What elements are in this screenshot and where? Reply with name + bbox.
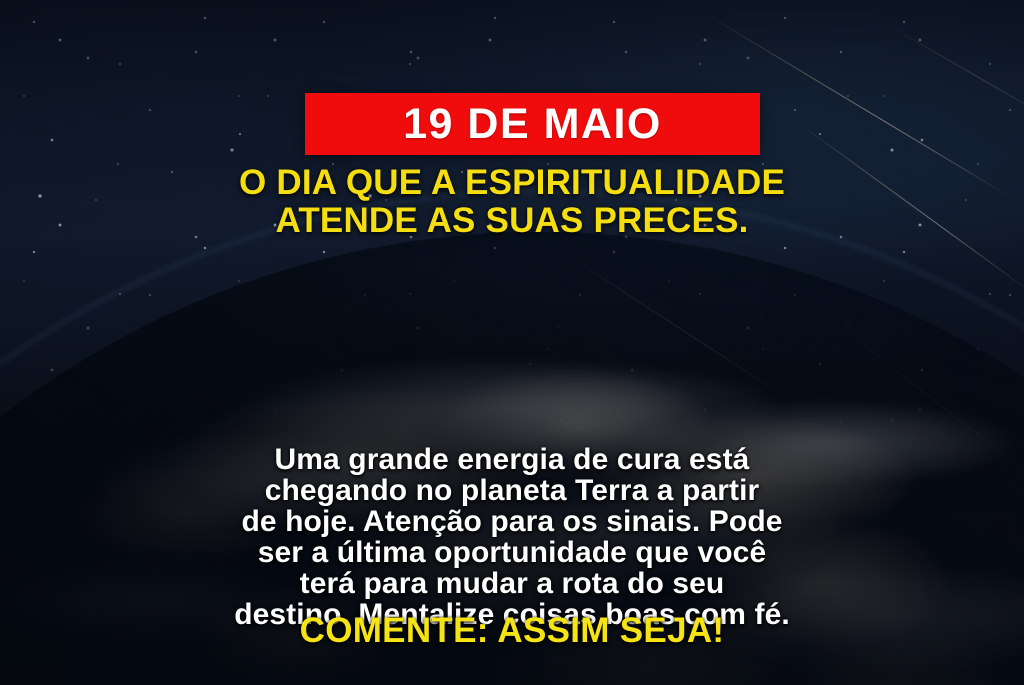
headline-line-1: O DIA QUE A ESPIRITUALIDADE (0, 164, 1024, 202)
date-banner: 19 DE MAIO (305, 93, 760, 155)
body-line-1: Uma grande energia de cura está (0, 444, 1024, 475)
poster-content: 19 DE MAIO O DIA QUE A ESPIRITUALIDADE A… (0, 0, 1024, 685)
body-line-3: de hoje. Atenção para os sinais. Pode (0, 506, 1024, 537)
body-line-5: terá para mudar a rota do seu (0, 568, 1024, 599)
date-banner-text: 19 DE MAIO (403, 103, 662, 146)
call-to-action-text: COMENTE: ASSIM SEJA! (0, 613, 1024, 650)
poster-image: 19 DE MAIO O DIA QUE A ESPIRITUALIDADE A… (0, 0, 1024, 685)
body-line-2: chegando no planeta Terra a partir (0, 475, 1024, 506)
headline-line-2: ATENDE AS SUAS PRECES. (0, 202, 1024, 240)
headline: O DIA QUE A ESPIRITUALIDADE ATENDE AS SU… (0, 164, 1024, 240)
body-line-4: ser a última oportunidade que você (0, 537, 1024, 568)
body-copy: Uma grande energia de cura está chegando… (0, 444, 1024, 630)
